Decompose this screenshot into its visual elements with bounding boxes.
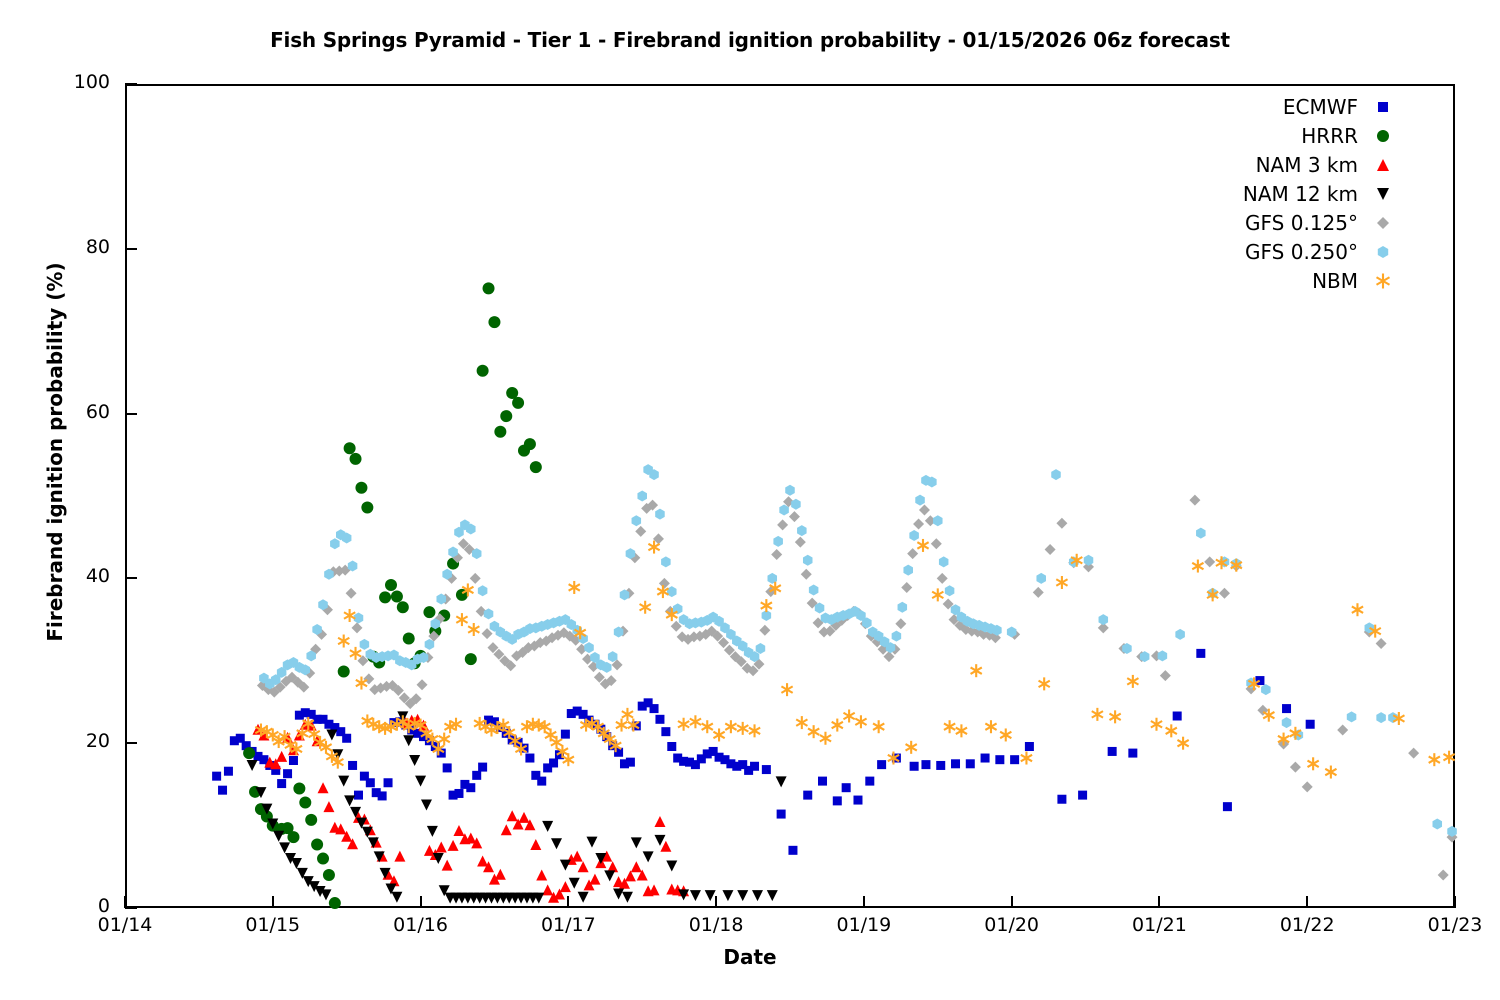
- data-point: [542, 821, 553, 832]
- data-point: [877, 760, 886, 769]
- data-point: [737, 890, 748, 901]
- data-point: [344, 795, 355, 806]
- data-point: [348, 761, 357, 770]
- data-point: [762, 765, 771, 774]
- data-point: [465, 653, 477, 665]
- data-point: [279, 842, 290, 853]
- y-axis-tick-label: 40: [10, 565, 110, 587]
- data-point: [584, 642, 594, 653]
- data-point: [551, 736, 562, 749]
- data-point: [1433, 818, 1443, 829]
- data-point: [613, 888, 624, 899]
- data-point: [1196, 528, 1206, 539]
- x-axis-tick-label: 01/15: [218, 914, 328, 936]
- data-point: [650, 704, 659, 713]
- data-point: [427, 826, 438, 837]
- data-point: [884, 651, 895, 662]
- legend-marker-square: [1374, 98, 1392, 116]
- data-point: [218, 786, 227, 795]
- legend-marker-triangle-down: [1374, 185, 1392, 203]
- data-point: [537, 777, 546, 786]
- data-point: [277, 779, 286, 788]
- data-point: [403, 633, 415, 645]
- data-point: [488, 316, 500, 328]
- series-gfs-0-250: [259, 464, 1457, 837]
- data-point: [932, 588, 943, 601]
- data-point: [569, 878, 580, 889]
- x-axis-tick: [272, 896, 274, 908]
- data-point: [776, 776, 787, 787]
- data-point: [655, 509, 665, 520]
- x-axis-tick-label: 01/22: [1252, 914, 1362, 936]
- data-point: [338, 776, 349, 787]
- data-point: [631, 837, 642, 848]
- data-point: [956, 724, 967, 737]
- data-point: [1290, 762, 1301, 773]
- data-point: [385, 579, 397, 591]
- data-point: [773, 536, 783, 547]
- data-point: [466, 783, 475, 792]
- data-point: [495, 869, 506, 880]
- data-point: [299, 797, 311, 809]
- data-point: [1025, 742, 1034, 751]
- y-axis-tick-label: 60: [10, 401, 110, 423]
- data-point: [678, 718, 689, 731]
- data-point: [1021, 752, 1032, 765]
- data-point: [305, 814, 317, 826]
- y-axis-tick: [125, 907, 137, 909]
- data-point: [1108, 747, 1117, 756]
- data-point: [478, 763, 487, 772]
- data-point: [818, 777, 827, 786]
- x-axis-tick-label: 01/16: [366, 914, 476, 936]
- data-point: [895, 618, 906, 629]
- data-point: [1219, 588, 1230, 599]
- data-point: [971, 664, 982, 677]
- data-point: [243, 747, 255, 759]
- y-axis-tick-label: 0: [10, 895, 110, 917]
- data-point: [690, 890, 701, 901]
- legend-item-nbm[interactable]: NBM: [1178, 266, 1400, 295]
- data-point: [1033, 587, 1044, 598]
- data-point: [820, 732, 831, 745]
- data-point: [494, 426, 506, 438]
- data-point: [789, 511, 800, 522]
- data-point: [1078, 791, 1087, 800]
- data-point: [468, 623, 479, 636]
- x-axis-label: Date: [0, 945, 1500, 969]
- data-point: [354, 791, 363, 800]
- data-point: [637, 491, 647, 502]
- data-point: [910, 762, 919, 771]
- data-point: [622, 892, 633, 903]
- legend-marker-diamond: [1374, 214, 1392, 232]
- data-point: [1056, 518, 1067, 529]
- data-point: [632, 515, 642, 526]
- legend-item-nam-3-km[interactable]: NAM 3 km: [1178, 150, 1400, 179]
- data-point: [722, 890, 733, 901]
- data-point: [454, 789, 463, 798]
- data-point: [524, 438, 536, 450]
- data-point: [384, 778, 393, 787]
- data-point: [551, 838, 562, 849]
- chart-title: Fish Springs Pyramid - Tier 1 - Firebran…: [0, 28, 1500, 52]
- data-point: [931, 538, 942, 549]
- y-axis-tick: [125, 413, 137, 415]
- chart-page: Fish Springs Pyramid - Tier 1 - Firebran…: [0, 0, 1500, 1000]
- data-point: [1036, 573, 1046, 584]
- data-point: [289, 756, 298, 765]
- data-point: [915, 495, 925, 506]
- data-point: [855, 715, 866, 728]
- data-point: [512, 397, 524, 409]
- data-point: [478, 585, 488, 596]
- data-point: [536, 870, 547, 881]
- data-point: [761, 599, 772, 612]
- data-point: [1347, 711, 1357, 722]
- data-point: [788, 846, 797, 855]
- legend-marker-triangle-up: [1374, 156, 1392, 174]
- legend-marker-asterisk: [1374, 272, 1392, 290]
- x-axis-tick: [863, 896, 865, 908]
- x-axis-tick: [1011, 896, 1013, 908]
- data-point: [666, 860, 677, 871]
- data-point: [966, 759, 975, 768]
- x-axis-tick: [420, 896, 422, 908]
- data-point: [350, 647, 361, 660]
- data-point: [1196, 649, 1205, 658]
- data-point: [1306, 720, 1315, 729]
- data-point: [654, 816, 665, 827]
- data-point: [777, 519, 788, 530]
- legend-item-gfs-0-125[interactable]: GFS 0.125°: [1178, 208, 1400, 237]
- x-axis-tick: [567, 896, 569, 908]
- data-point: [317, 853, 329, 865]
- data-point: [1189, 495, 1200, 506]
- data-point: [865, 777, 874, 786]
- y-axis-tick-label: 20: [10, 730, 110, 752]
- data-point: [561, 730, 570, 739]
- data-point: [1337, 725, 1348, 736]
- x-axis-tick-label: 01/14: [70, 914, 180, 936]
- data-point: [344, 609, 355, 622]
- data-point: [933, 515, 943, 526]
- data-point: [1261, 684, 1271, 695]
- data-point: [898, 602, 908, 613]
- data-point: [690, 715, 701, 728]
- data-point: [937, 573, 948, 584]
- data-point: [500, 410, 512, 422]
- data-point: [342, 734, 351, 743]
- data-point: [378, 791, 387, 800]
- data-point: [939, 556, 949, 567]
- data-point: [1000, 728, 1011, 741]
- data-point: [842, 783, 851, 792]
- y-axis-tick: [125, 577, 137, 579]
- x-axis-tick-label: 01/19: [809, 914, 919, 936]
- legend-item-gfs-0-250[interactable]: GFS 0.250°: [1178, 237, 1400, 266]
- data-point: [616, 719, 627, 732]
- data-point: [1302, 781, 1313, 792]
- data-point: [338, 666, 350, 678]
- data-point: [1099, 614, 1109, 625]
- data-point: [1429, 753, 1440, 766]
- data-point: [1177, 737, 1188, 750]
- data-point: [456, 613, 467, 626]
- data-point: [985, 720, 996, 733]
- data-point: [311, 839, 323, 851]
- data-point: [907, 548, 918, 559]
- data-point: [995, 755, 1004, 764]
- series-hrrr: [243, 282, 542, 909]
- data-point: [919, 505, 930, 516]
- data-point: [661, 727, 670, 736]
- data-point: [750, 762, 759, 771]
- y-axis-tick: [125, 742, 137, 744]
- data-point: [1160, 670, 1171, 681]
- y-axis-tick-label: 80: [10, 236, 110, 258]
- data-point: [913, 519, 924, 530]
- data-point: [569, 581, 580, 594]
- data-point: [1173, 712, 1182, 721]
- data-point: [1376, 638, 1387, 649]
- data-point: [903, 565, 913, 576]
- data-point: [622, 708, 633, 721]
- data-point: [756, 643, 766, 654]
- data-point: [330, 538, 340, 549]
- x-axis-tick-label: 01/21: [1104, 914, 1214, 936]
- data-point: [352, 622, 363, 633]
- data-point: [873, 720, 884, 733]
- data-point: [1045, 544, 1056, 555]
- data-point: [470, 573, 481, 584]
- data-point: [379, 591, 391, 603]
- y-axis-tick: [125, 83, 137, 85]
- series-gfs-0-125: [257, 495, 1458, 881]
- data-point: [832, 719, 843, 732]
- data-point: [749, 724, 760, 737]
- data-point: [626, 758, 635, 767]
- data-point: [560, 881, 571, 892]
- data-point: [797, 525, 807, 536]
- chart-legend: ECMWFHRRRNAM 3 kmNAM 12 kmGFS 0.125°GFS …: [1178, 92, 1400, 295]
- data-point: [640, 601, 651, 614]
- data-point: [545, 728, 556, 741]
- data-point: [482, 628, 493, 639]
- data-point: [1010, 755, 1019, 764]
- data-point: [843, 710, 854, 723]
- data-point: [1204, 556, 1215, 567]
- data-point: [917, 539, 928, 552]
- data-point: [323, 869, 335, 881]
- x-axis-tick: [715, 896, 717, 908]
- data-point: [326, 729, 337, 740]
- data-point: [892, 631, 902, 642]
- legend-marker-circle: [1374, 127, 1392, 145]
- data-point: [655, 715, 664, 724]
- data-point: [1151, 718, 1162, 731]
- data-point: [657, 585, 668, 598]
- data-point: [1175, 629, 1185, 640]
- data-point: [771, 549, 782, 560]
- data-point: [1192, 560, 1203, 573]
- data-point: [530, 461, 542, 473]
- data-point: [1282, 704, 1291, 713]
- data-point: [394, 851, 405, 862]
- data-point: [318, 782, 329, 793]
- data-point: [247, 760, 258, 771]
- data-point: [323, 801, 334, 812]
- data-point: [1308, 757, 1319, 770]
- data-point: [713, 728, 724, 741]
- data-point: [759, 625, 770, 636]
- data-point: [350, 453, 362, 465]
- data-point: [283, 769, 292, 778]
- data-point: [777, 810, 786, 819]
- data-point: [1352, 603, 1363, 616]
- data-point: [391, 591, 403, 603]
- data-point: [421, 800, 432, 811]
- data-point: [1443, 751, 1454, 764]
- data-point: [702, 720, 713, 733]
- data-point: [483, 282, 495, 294]
- data-point: [361, 502, 373, 514]
- data-point: [1127, 675, 1138, 688]
- data-point: [453, 825, 464, 836]
- data-point: [344, 442, 356, 454]
- data-point: [525, 754, 534, 763]
- data-point: [442, 860, 453, 871]
- y-axis-tick: [125, 248, 137, 250]
- data-point: [661, 556, 671, 567]
- x-axis-tick-label: 01/20: [957, 914, 1067, 936]
- data-point: [1158, 650, 1168, 661]
- data-point: [752, 890, 763, 901]
- data-point: [224, 767, 233, 776]
- y-axis-tick-label: 100: [10, 71, 110, 93]
- data-point: [519, 812, 530, 823]
- data-point: [705, 890, 716, 901]
- data-point: [1408, 748, 1419, 759]
- data-point: [1109, 710, 1120, 723]
- data-point: [833, 796, 842, 805]
- data-point: [1084, 555, 1094, 566]
- x-axis-tick: [1454, 896, 1456, 908]
- data-point: [436, 842, 447, 853]
- data-point: [906, 741, 917, 754]
- data-point: [276, 751, 287, 762]
- data-point: [1039, 677, 1050, 690]
- data-point: [391, 892, 402, 903]
- data-point: [212, 772, 221, 781]
- data-point: [1438, 870, 1449, 881]
- x-axis-tick-label: 01/23: [1400, 914, 1500, 936]
- data-point: [901, 582, 912, 593]
- legend-item-ecmwf[interactable]: ECMWF: [1178, 92, 1400, 121]
- data-point: [725, 720, 736, 733]
- data-point: [477, 856, 488, 867]
- data-point: [572, 851, 583, 862]
- data-point: [477, 365, 489, 377]
- data-point: [659, 578, 670, 589]
- data-point: [1282, 717, 1292, 728]
- x-axis-tick-label: 01/18: [661, 914, 771, 936]
- data-point: [1223, 802, 1232, 811]
- data-point: [549, 758, 558, 767]
- data-point: [355, 482, 367, 494]
- x-axis-tick-label: 01/17: [513, 914, 623, 936]
- data-point: [809, 584, 819, 595]
- data-point: [808, 725, 819, 738]
- data-point: [767, 890, 778, 901]
- data-point: [501, 824, 512, 835]
- data-point: [415, 776, 426, 787]
- data-point: [439, 733, 450, 746]
- series-ecmwf: [212, 649, 1315, 855]
- data-point: [945, 585, 955, 596]
- legend-item-nam-12-km[interactable]: NAM 12 km: [1178, 179, 1400, 208]
- data-point: [586, 837, 597, 848]
- data-point: [360, 639, 370, 650]
- data-point: [667, 742, 676, 751]
- data-point: [1057, 795, 1066, 804]
- data-point: [921, 760, 930, 769]
- data-point: [1092, 708, 1103, 721]
- data-point: [578, 892, 589, 903]
- data-point: [604, 870, 615, 881]
- data-point: [578, 861, 589, 872]
- data-point: [443, 763, 452, 772]
- data-point: [1376, 712, 1386, 723]
- data-point: [291, 858, 302, 869]
- data-point: [287, 831, 299, 843]
- data-point: [397, 601, 409, 613]
- data-point: [589, 874, 600, 885]
- data-point: [936, 761, 945, 770]
- data-point: [329, 897, 341, 909]
- data-point: [803, 791, 812, 800]
- legend-item-hrrr[interactable]: HRRR: [1178, 121, 1400, 150]
- data-point: [338, 635, 349, 648]
- data-point: [635, 526, 646, 537]
- data-point: [1128, 749, 1137, 758]
- data-point: [660, 841, 671, 852]
- x-axis-tick: [1158, 896, 1160, 908]
- data-point: [1056, 576, 1067, 589]
- data-point: [366, 778, 375, 787]
- data-point: [403, 735, 414, 746]
- data-point: [363, 673, 374, 684]
- data-point: [448, 840, 459, 851]
- data-point: [795, 537, 806, 548]
- data-point: [1051, 469, 1061, 480]
- data-point: [320, 889, 331, 900]
- data-point: [951, 759, 960, 768]
- data-point: [781, 683, 792, 696]
- data-point: [654, 835, 665, 846]
- data-point: [667, 586, 677, 597]
- data-point: [417, 679, 428, 690]
- data-point: [631, 861, 642, 872]
- data-point: [472, 771, 481, 780]
- data-point: [796, 716, 807, 729]
- data-point: [1325, 766, 1336, 779]
- data-point: [346, 588, 357, 599]
- data-point: [560, 860, 571, 871]
- legend-marker-hexagon: [1374, 243, 1392, 261]
- data-point: [853, 796, 862, 805]
- data-point: [542, 884, 553, 895]
